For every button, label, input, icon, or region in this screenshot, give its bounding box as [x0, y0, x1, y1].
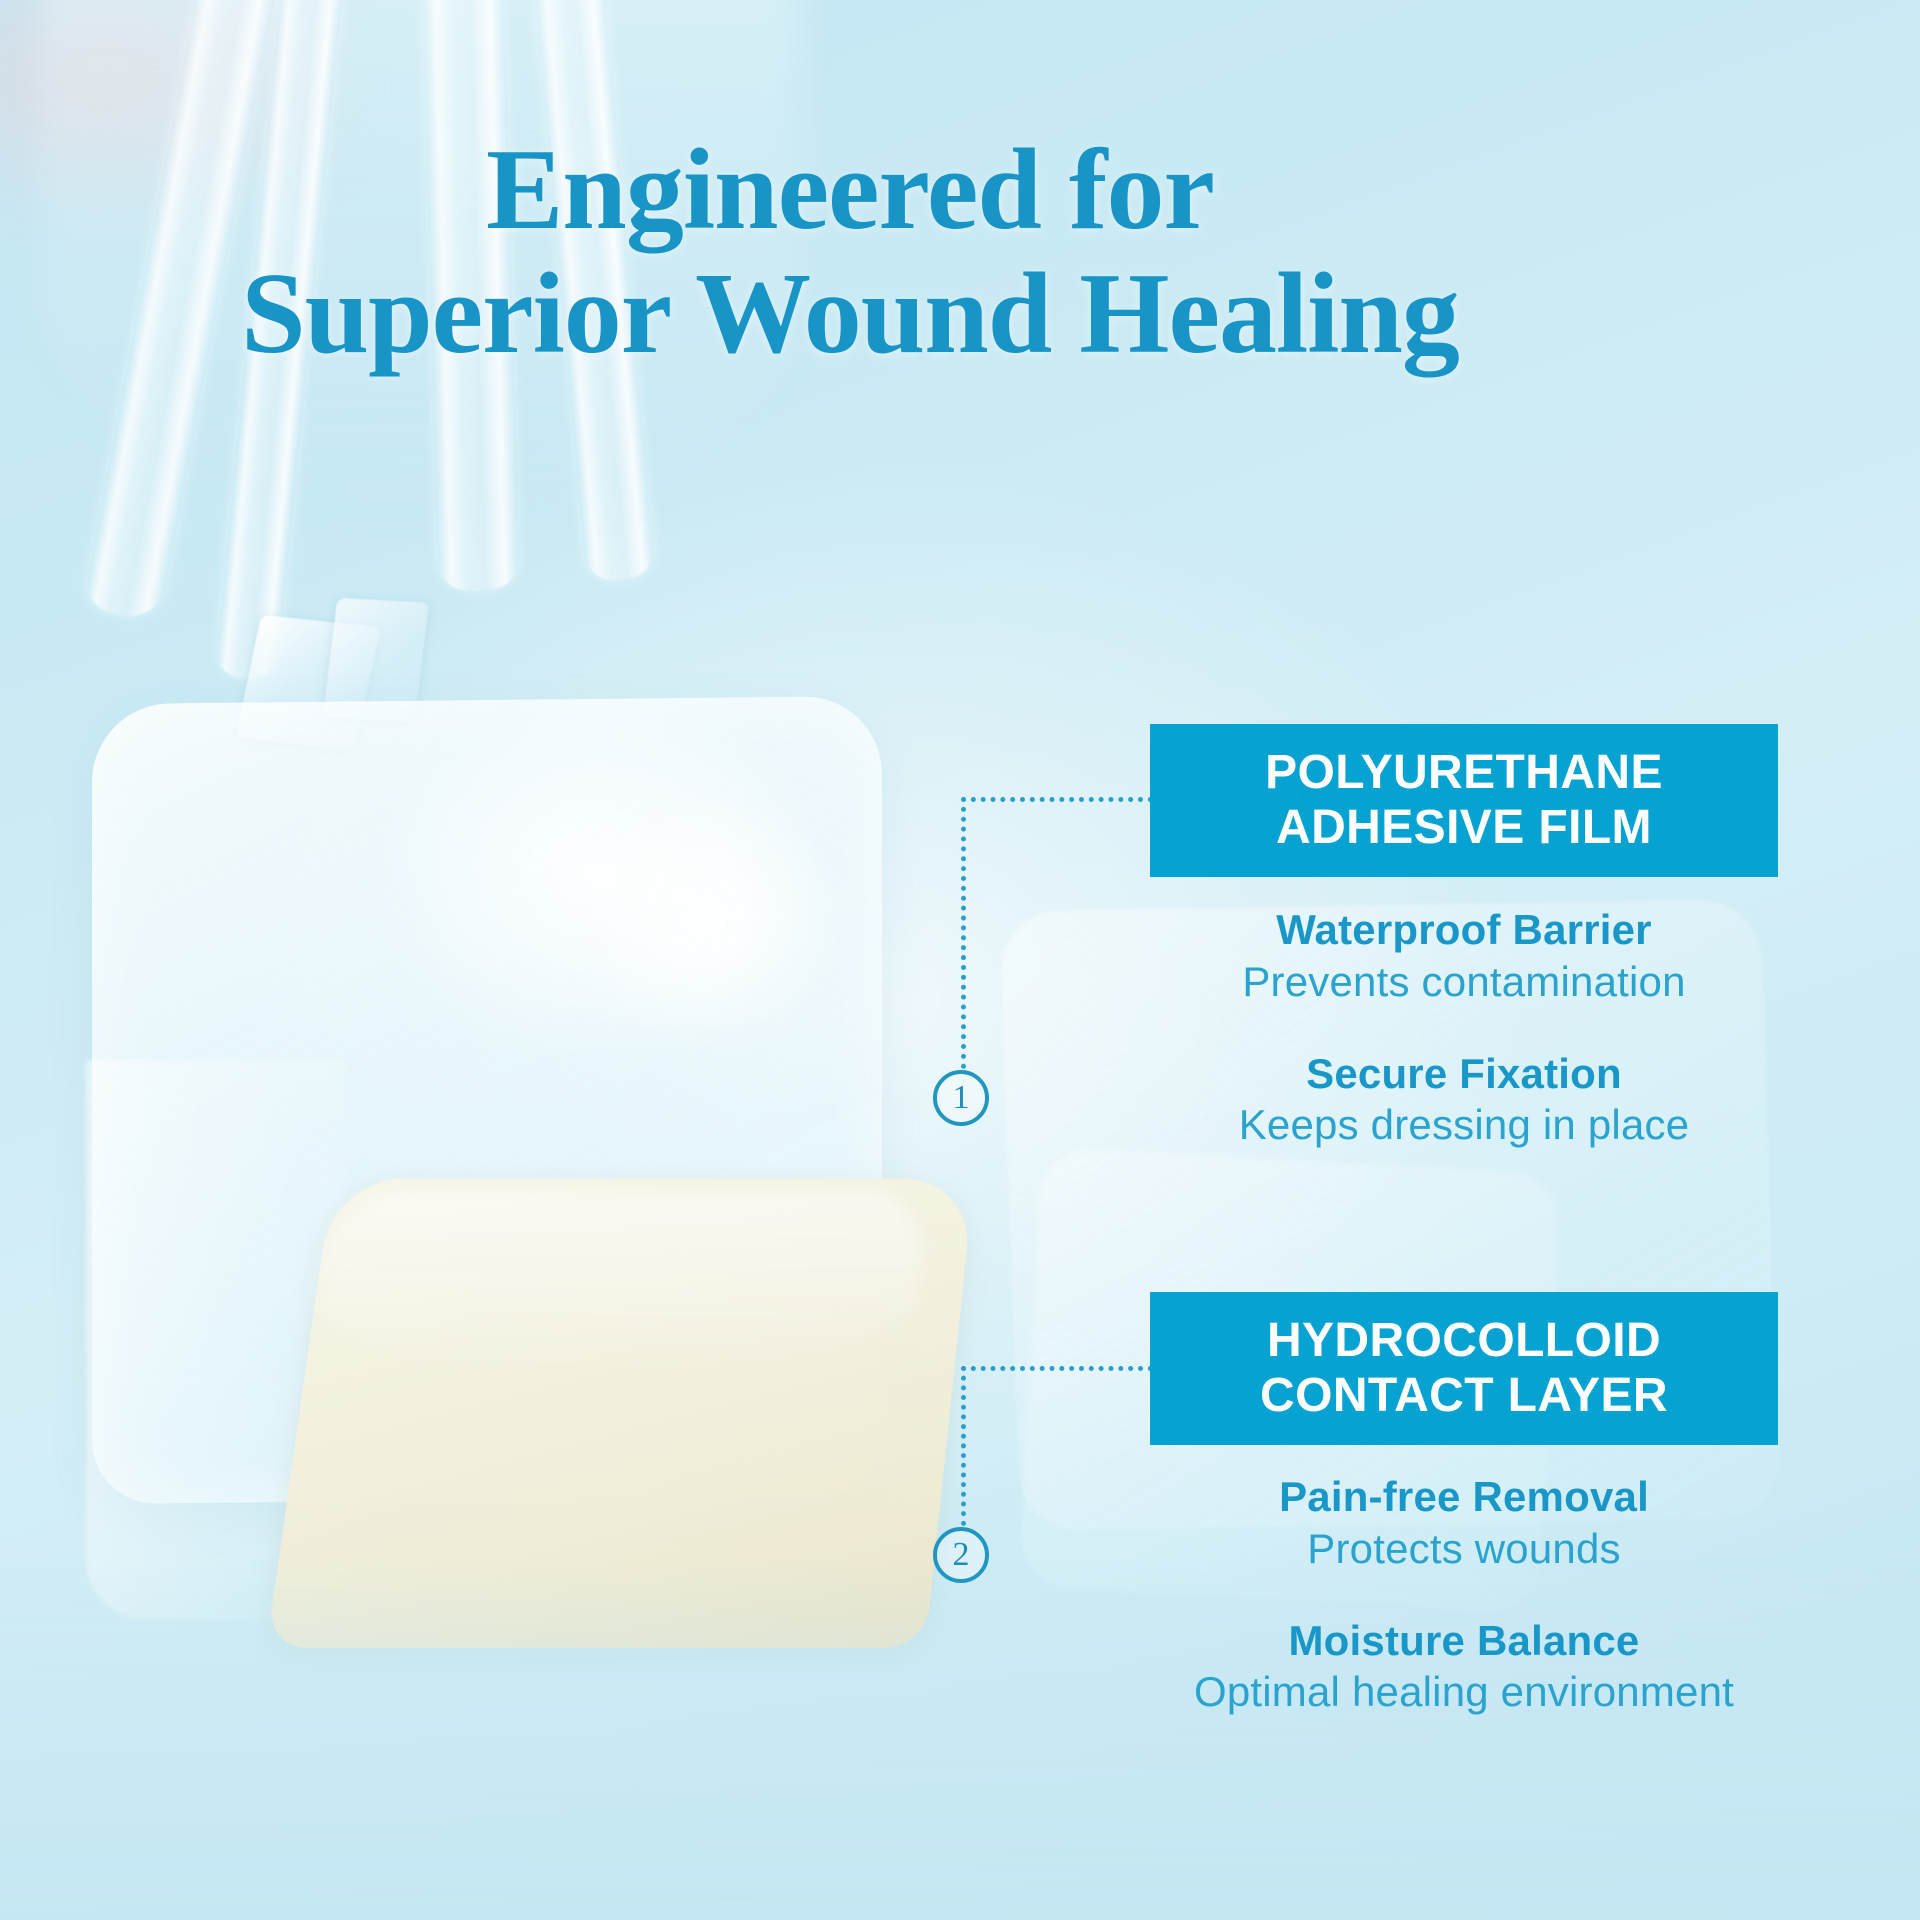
infographic-canvas: Engineered for Superior Wound Healing 1 …	[0, 0, 1920, 1920]
leader-line-2-horizontal	[961, 1366, 1153, 1371]
callout-marker-2[interactable]: 2	[933, 1527, 989, 1583]
callout-banner-hydrocolloid: HYDROCOLLOID CONTACT LAYER	[1150, 1292, 1778, 1445]
feature-title: Pain-free Removal	[1150, 1472, 1778, 1522]
callout-banner-2-line-1: HYDROCOLLOID	[1267, 1314, 1661, 1368]
callout-marker-1[interactable]: 1	[933, 1070, 989, 1126]
feature-title: Moisture Balance	[1150, 1616, 1778, 1666]
leader-line-1-horizontal	[961, 797, 1153, 802]
highlight-bloom	[560, 790, 860, 1050]
feature-item: Pain-free Removal Protects wounds	[1150, 1472, 1778, 1574]
feature-item: Waterproof Barrier Prevents contaminatio…	[1150, 905, 1778, 1007]
page-title-line-2: Superior Wound Healing	[0, 252, 1700, 376]
hydrocolloid-pad	[266, 1178, 974, 1647]
feature-description: Prevents contamination	[1150, 957, 1778, 1007]
page-title: Engineered for Superior Wound Healing	[0, 128, 1700, 376]
feature-description: Keeps dressing in place	[1150, 1100, 1778, 1150]
feature-item: Secure Fixation Keeps dressing in place	[1150, 1049, 1778, 1151]
feature-item: Moisture Balance Optimal healing environ…	[1150, 1616, 1778, 1718]
leader-line-1-vertical	[961, 797, 966, 1069]
dressing-sheet-flap	[86, 1060, 346, 1620]
callout-banner-1-line-1: POLYURETHANE	[1265, 746, 1663, 800]
feature-description: Optimal healing environment	[1150, 1667, 1778, 1717]
dressing-sheet-main	[92, 696, 882, 1504]
callout-banner-1-line-2: ADHESIVE FILM	[1276, 801, 1652, 855]
leader-line-2-vertical	[961, 1366, 966, 1526]
forceps-tip-2	[323, 598, 430, 722]
hydrocolloid-pad-sheen	[309, 1190, 931, 1370]
feature-description: Protects wounds	[1150, 1524, 1778, 1574]
feature-list-hydrocolloid: Pain-free Removal Protects wounds Moistu…	[1150, 1472, 1778, 1718]
feature-title: Waterproof Barrier	[1150, 905, 1778, 955]
feature-list-polyurethane: Waterproof Barrier Prevents contaminatio…	[1150, 905, 1778, 1151]
callout-banner-polyurethane: POLYURETHANE ADHESIVE FILM	[1150, 724, 1778, 877]
callout-banner-2-line-2: CONTACT LAYER	[1260, 1369, 1668, 1423]
forceps-tip-1	[235, 615, 380, 750]
feature-title: Secure Fixation	[1150, 1049, 1778, 1099]
page-title-line-1: Engineered for	[486, 126, 1214, 254]
